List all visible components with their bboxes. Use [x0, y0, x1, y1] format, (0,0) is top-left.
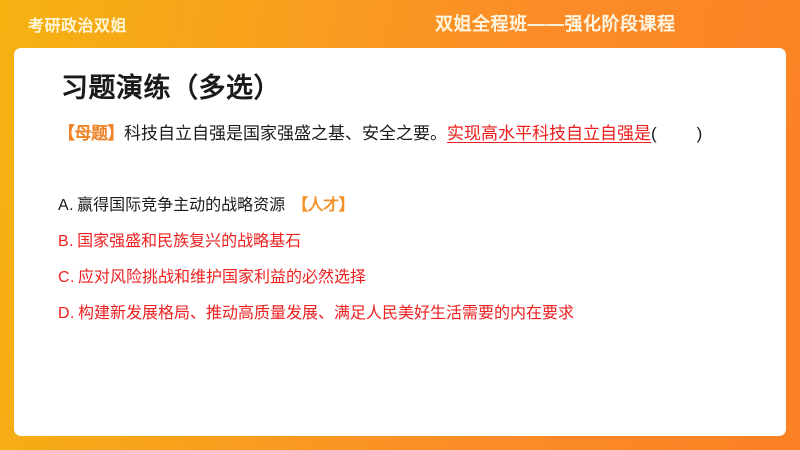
content-card: 习题演练（多选） 【母题】科技自立自强是国家强盛之基、安全之要。实现高水平科技自…	[14, 48, 786, 436]
header-brand-title: 考研政治双姐	[28, 12, 127, 36]
slide-header: 考研政治双姐 双姐全程班——强化阶段课程	[0, 0, 800, 46]
question-type-badge: 【母题】	[58, 124, 124, 143]
question-stem: 【母题】科技自立自强是国家强盛之基、安全之要。实现高水平科技自立自强是( )	[58, 116, 758, 151]
question-stem-red-line1: 实现高水平科技自立自	[447, 124, 617, 143]
option-b-text: 国家强盛和民族复兴的战略基石	[77, 233, 301, 250]
option-b-label: B.	[58, 233, 74, 250]
page-title: 习题演练（多选）	[61, 66, 281, 105]
option-a-label: A.	[58, 197, 74, 214]
header-course-title: 双姐全程班——强化阶段课程	[435, 10, 676, 36]
option-d-label: D.	[58, 305, 75, 322]
option-d[interactable]: D.构建新发展格局、推动高质量发展、满足人民美好生活需要的内在要求	[58, 296, 768, 332]
question-answer-blank: ( )	[651, 124, 704, 143]
slide-root: 考研政治双姐 双姐全程班——强化阶段课程 习题演练（多选） 【母题】科技自立自强…	[0, 0, 800, 450]
option-c-text: 应对风险挑战和维护国家利益的必然选择	[78, 269, 366, 286]
option-a-accent: 【人才】	[292, 197, 354, 214]
option-c[interactable]: C.应对风险挑战和维护国家利益的必然选择	[58, 260, 768, 296]
option-d-text: 构建新发展格局、推动高质量发展、满足人民美好生活需要的内在要求	[78, 305, 574, 322]
option-a[interactable]: A.赢得国际竞争主动的战略资源【人才】	[58, 188, 768, 224]
options-list: A.赢得国际竞争主动的战略资源【人才】 B.国家强盛和民族复兴的战略基石 C.应…	[58, 188, 768, 332]
option-a-text: 赢得国际竞争主动的战略资源	[77, 197, 285, 214]
question-stem-red-line2: 强是	[617, 124, 651, 143]
option-c-label: C.	[58, 269, 75, 286]
question-stem-black: 科技自立自强是国家强盛之基、安全之要。	[124, 124, 447, 143]
option-b[interactable]: B.国家强盛和民族复兴的战略基石	[58, 224, 768, 260]
